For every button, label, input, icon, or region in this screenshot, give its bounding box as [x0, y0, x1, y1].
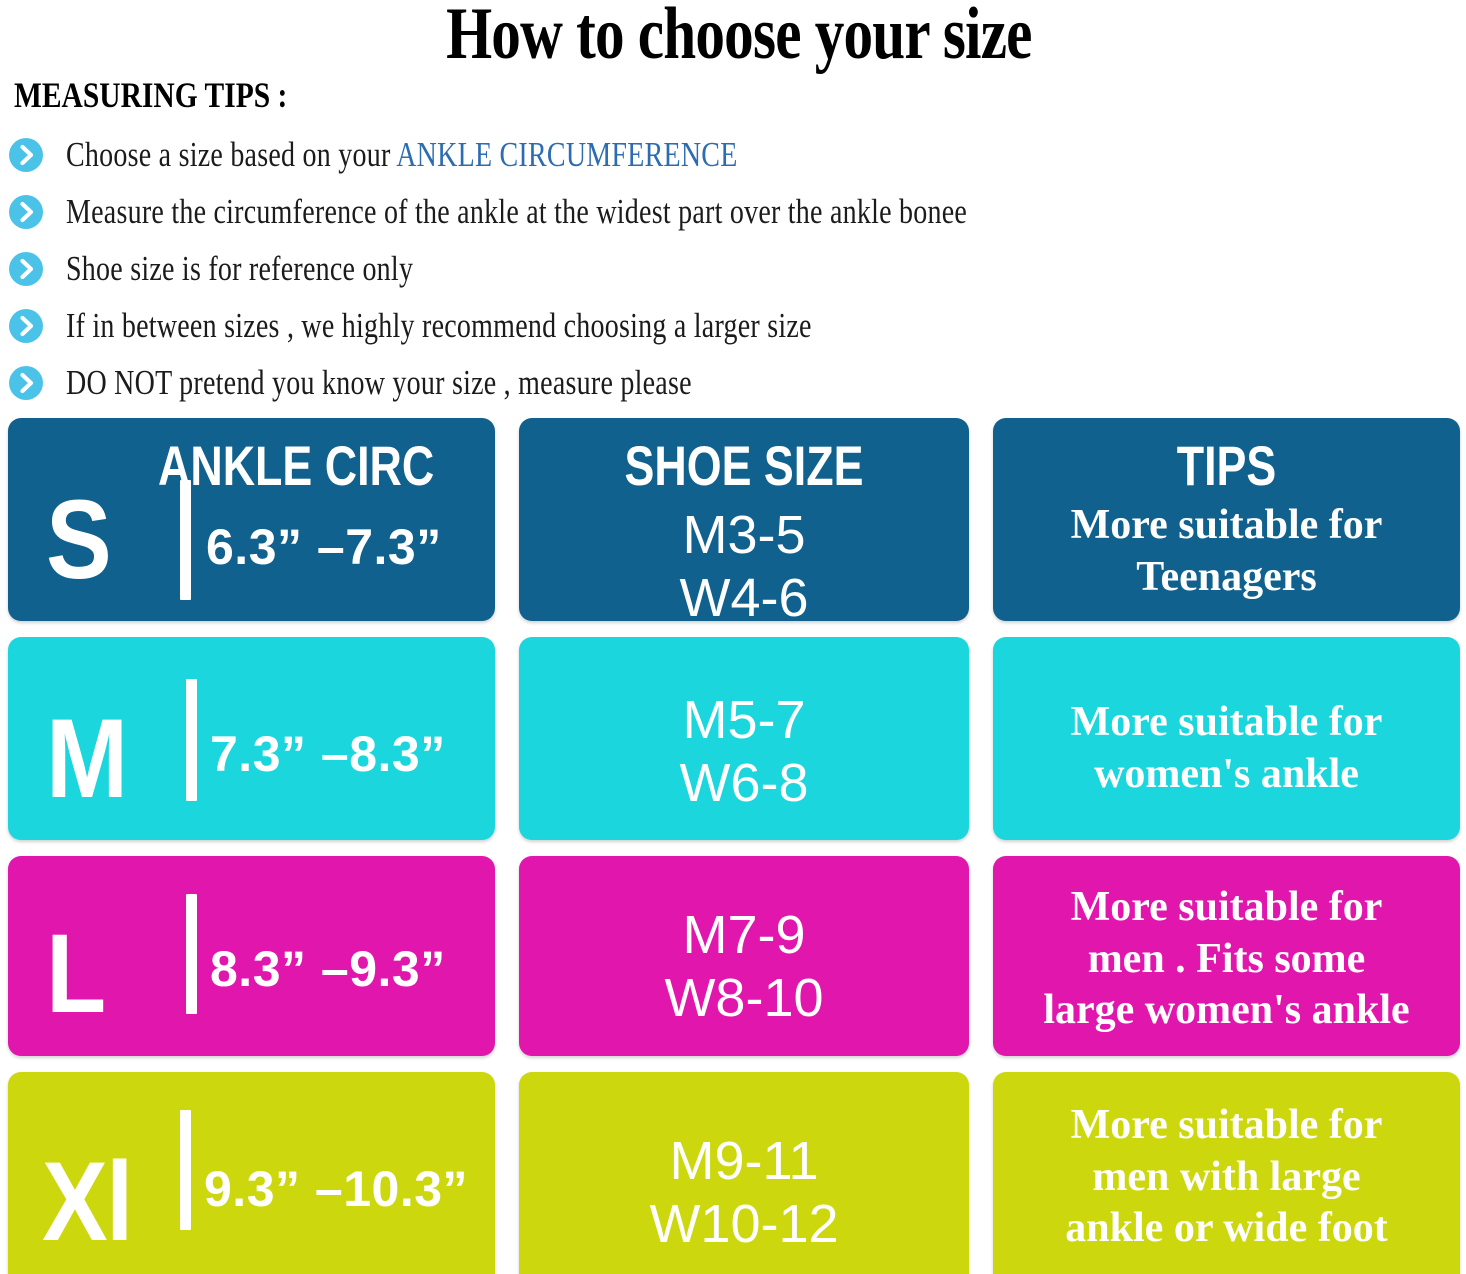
cell-shoe-s: SHOE SIZE M3-5 W4-6	[519, 418, 969, 621]
cell-tips-xl: More suitable for men with large ankle o…	[993, 1072, 1460, 1274]
tips-value: More suitable for men with large ankle o…	[993, 1100, 1460, 1255]
tips-line-2: women's ankle	[1007, 749, 1446, 801]
tips-line-1: More suitable for	[1007, 697, 1446, 749]
list-item-text-highlight: ANKLE CIRCUMFERENCE	[396, 135, 737, 174]
column-header-ankle-circ: ANKLE CIRC	[158, 438, 428, 494]
cell-tips-m: More suitable for women's ankle	[993, 637, 1460, 840]
divider	[186, 894, 197, 1014]
divider	[180, 480, 191, 600]
cell-shoe-m: M5-7 W6-8	[519, 637, 969, 840]
measuring-tips-label: MEASURING TIPS :	[14, 74, 287, 116]
list-item-text-plain: Choose a size based on your	[66, 135, 396, 174]
chevron-right-circle-icon	[8, 251, 44, 287]
tips-value: More suitable for women's ankle	[993, 697, 1460, 800]
shoe-size-line-1: M5-7	[519, 689, 969, 752]
shoe-size-line-2: W4-6	[519, 567, 969, 621]
tips-line-2: men . Fits some	[1007, 934, 1446, 986]
chevron-right-circle-icon	[8, 137, 44, 173]
table-row: L 8.3” –9.3” M7-9 W8-10 More suitable fo…	[8, 856, 1460, 1056]
list-item-text: If in between sizes , we highly recommen…	[66, 308, 812, 343]
cell-size-l: L 8.3” –9.3”	[8, 856, 495, 1056]
list-item: If in between sizes , we highly recommen…	[8, 297, 1428, 354]
size-letter: Xl	[42, 1146, 132, 1258]
shoe-size-value: M7-9 W8-10	[519, 904, 969, 1030]
table-row: M 7.3” –8.3” M5-7 W6-8 More suitable for…	[8, 637, 1460, 840]
tips-line-1: More suitable for	[1007, 1100, 1446, 1152]
cell-tips-l: More suitable for men . Fits some large …	[993, 856, 1460, 1056]
size-chart-page: How to choose your size MEASURING TIPS :…	[0, 0, 1466, 1274]
list-item: Measure the circumference of the ankle a…	[8, 183, 1428, 240]
page-title: How to choose your size	[152, 0, 1325, 74]
column-header-tips: TIPS	[1040, 438, 1414, 494]
tips-value: More suitable for Teenagers	[993, 500, 1460, 603]
cell-size-m: M 7.3” –8.3”	[8, 637, 495, 840]
size-letter: L	[46, 918, 104, 1030]
ankle-circ-value: 6.3” –7.3”	[206, 522, 442, 572]
list-item: Choose a size based on your ANKLE CIRCUM…	[8, 126, 1428, 183]
table-row: ANKLE CIRC S 6.3” –7.3” SHOE SIZE M3-5 W…	[8, 418, 1460, 621]
shoe-size-value: M9-11 W10-12	[519, 1130, 969, 1256]
chevron-right-circle-icon	[8, 194, 44, 230]
shoe-size-line-2: W10-12	[519, 1193, 969, 1256]
list-item-text: Shoe size is for reference only	[66, 251, 413, 286]
tips-line-1: More suitable for	[1007, 882, 1446, 934]
size-letter: S	[46, 484, 110, 596]
ankle-circ-value: 9.3” –10.3”	[204, 1164, 468, 1214]
tips-line-1: More suitable for	[1007, 500, 1446, 552]
cell-tips-s: TIPS More suitable for Teenagers	[993, 418, 1460, 621]
ankle-circ-value: 7.3” –8.3”	[210, 729, 446, 779]
shoe-size-value: M5-7 W6-8	[519, 689, 969, 815]
chevron-right-circle-icon	[8, 365, 44, 401]
shoe-size-line-1: M3-5	[519, 504, 969, 567]
shoe-size-line-2: W6-8	[519, 752, 969, 815]
list-item: Shoe size is for reference only	[8, 240, 1428, 297]
tips-value: More suitable for men . Fits some large …	[993, 882, 1460, 1037]
table-row: Xl 9.3” –10.3” M9-11 W10-12 More suitabl…	[8, 1072, 1460, 1274]
chevron-right-circle-icon	[8, 308, 44, 344]
measuring-tips-list: Choose a size based on your ANKLE CIRCUM…	[8, 126, 1428, 411]
size-letter: M	[46, 703, 126, 815]
shoe-size-line-2: W8-10	[519, 967, 969, 1030]
size-table: ANKLE CIRC S 6.3” –7.3” SHOE SIZE M3-5 W…	[8, 418, 1460, 1274]
tips-line-2: Teenagers	[1007, 552, 1446, 604]
list-item-text: Choose a size based on your ANKLE CIRCUM…	[66, 137, 738, 172]
cell-shoe-l: M7-9 W8-10	[519, 856, 969, 1056]
cell-shoe-xl: M9-11 W10-12	[519, 1072, 969, 1274]
tips-line-3: ankle or wide foot	[1007, 1203, 1446, 1255]
list-item-text: Measure the circumference of the ankle a…	[66, 194, 967, 229]
ankle-circ-value: 8.3” –9.3”	[210, 944, 446, 994]
cell-size-s: ANKLE CIRC S 6.3” –7.3”	[8, 418, 495, 621]
shoe-size-line-1: M9-11	[519, 1130, 969, 1193]
tips-line-3: large women's ankle	[1007, 985, 1446, 1037]
divider	[180, 1110, 191, 1230]
cell-size-xl: Xl 9.3” –10.3”	[8, 1072, 495, 1274]
tips-line-2: men with large	[1007, 1152, 1446, 1204]
shoe-size-value: M3-5 W4-6	[519, 504, 969, 621]
column-header-shoe-size: SHOE SIZE	[564, 438, 924, 494]
shoe-size-line-1: M7-9	[519, 904, 969, 967]
divider	[186, 679, 197, 801]
list-item: DO NOT pretend you know your size , meas…	[8, 354, 1428, 411]
list-item-text: DO NOT pretend you know your size , meas…	[66, 365, 692, 400]
